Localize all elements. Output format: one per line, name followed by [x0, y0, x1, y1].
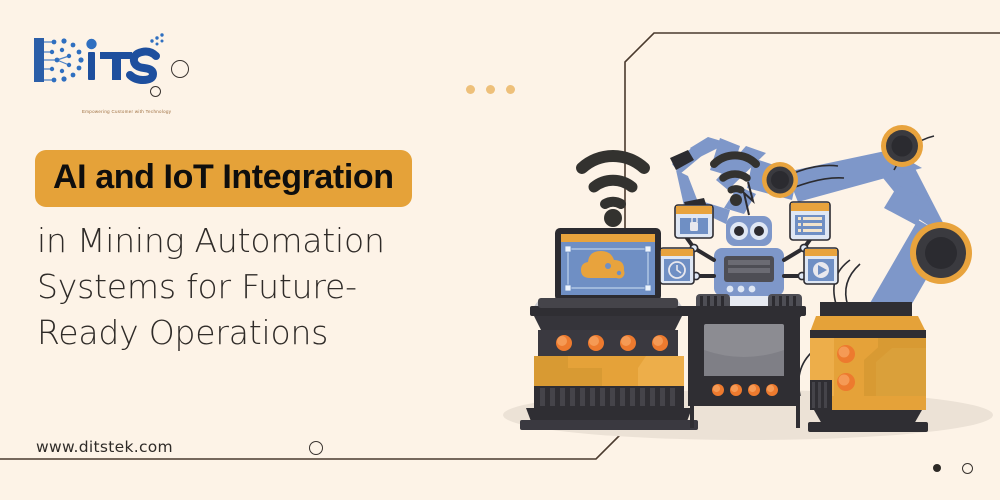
logo-tagline: Empowering Customer with Technology [82, 109, 171, 114]
subtitle-line-3: Ready Operations [37, 310, 507, 356]
logo-icon [26, 30, 166, 90]
machine-right-amber [808, 302, 928, 432]
decor-ring-small [150, 86, 161, 97]
decor-dot-orange-1 [466, 85, 475, 94]
logo[interactable]: Empowering Customer with Technology [26, 30, 166, 90]
decor-ring-bottom-right [962, 463, 973, 474]
card-browser-lock [675, 205, 713, 238]
wifi-signal-large [582, 156, 644, 227]
illustration [498, 10, 1000, 450]
headline-highlight: AI and IoT Integration [35, 150, 412, 207]
card-checklist [790, 202, 830, 240]
machine-left-dark [520, 298, 698, 430]
decor-dot-orange-2 [486, 85, 495, 94]
subtitle-line-2: Systems for Future- [37, 264, 507, 310]
banner-root: Empowering Customer with Technology AI a… [0, 0, 1000, 500]
arm-joint-gripper [762, 162, 798, 198]
headline-highlight-text: AI and IoT Integration [53, 159, 394, 195]
card-clock [660, 248, 694, 284]
decor-dot-solid [933, 464, 941, 472]
decor-ring-bottom-left [309, 441, 323, 455]
subtitle-line-1: in Mining Automation [37, 218, 507, 264]
card-play [804, 248, 838, 284]
arm-joint-elbow-mid [910, 222, 972, 284]
arm-joint-elbow-top [881, 125, 923, 167]
website-url[interactable]: www.ditstek.com [36, 438, 173, 456]
decor-ring-medium [171, 60, 189, 78]
headline-subtitle: in Mining Automation Systems for Future-… [37, 218, 507, 356]
